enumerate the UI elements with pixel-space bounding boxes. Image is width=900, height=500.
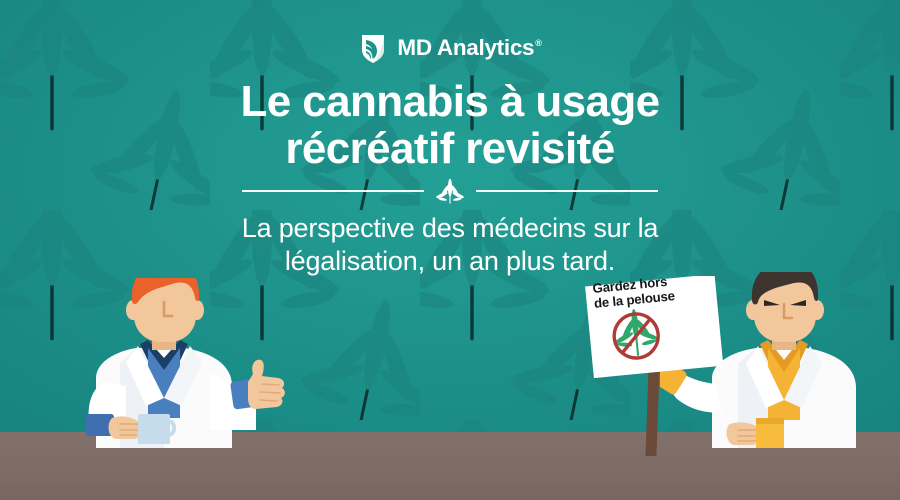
thumbs-up-icon <box>248 360 285 409</box>
divider-rule-right <box>476 190 658 192</box>
shield-swoosh-logo-icon <box>358 32 388 64</box>
subtitle-line-2: légalisation, un an plus tard. <box>0 245 900 278</box>
doctor-thumbs-up-illustration <box>60 278 290 448</box>
page-title: Le cannabis à usage récréatif revisité <box>0 78 900 172</box>
protest-sign <box>575 276 735 456</box>
brand-name-text: MD Analytics <box>397 35 534 60</box>
poster-canvas: Gardez hors de la pelouse MD Analytics® … <box>0 0 900 500</box>
mug <box>138 414 170 444</box>
brand-logo: MD Analytics® <box>0 31 900 65</box>
title-line-1: Le cannabis à usage <box>0 78 900 125</box>
subtitle-line-1: La perspective des médecins sur la <box>0 212 900 245</box>
title-divider <box>0 178 900 204</box>
divider-rule-left <box>242 190 424 192</box>
title-line-2: récréatif revisité <box>0 125 900 172</box>
registered-mark: ® <box>535 38 541 48</box>
brand-name: MD Analytics® <box>397 37 541 60</box>
cannabis-leaf-icon <box>435 178 465 204</box>
page-subtitle: La perspective des médecins sur la légal… <box>0 212 900 278</box>
